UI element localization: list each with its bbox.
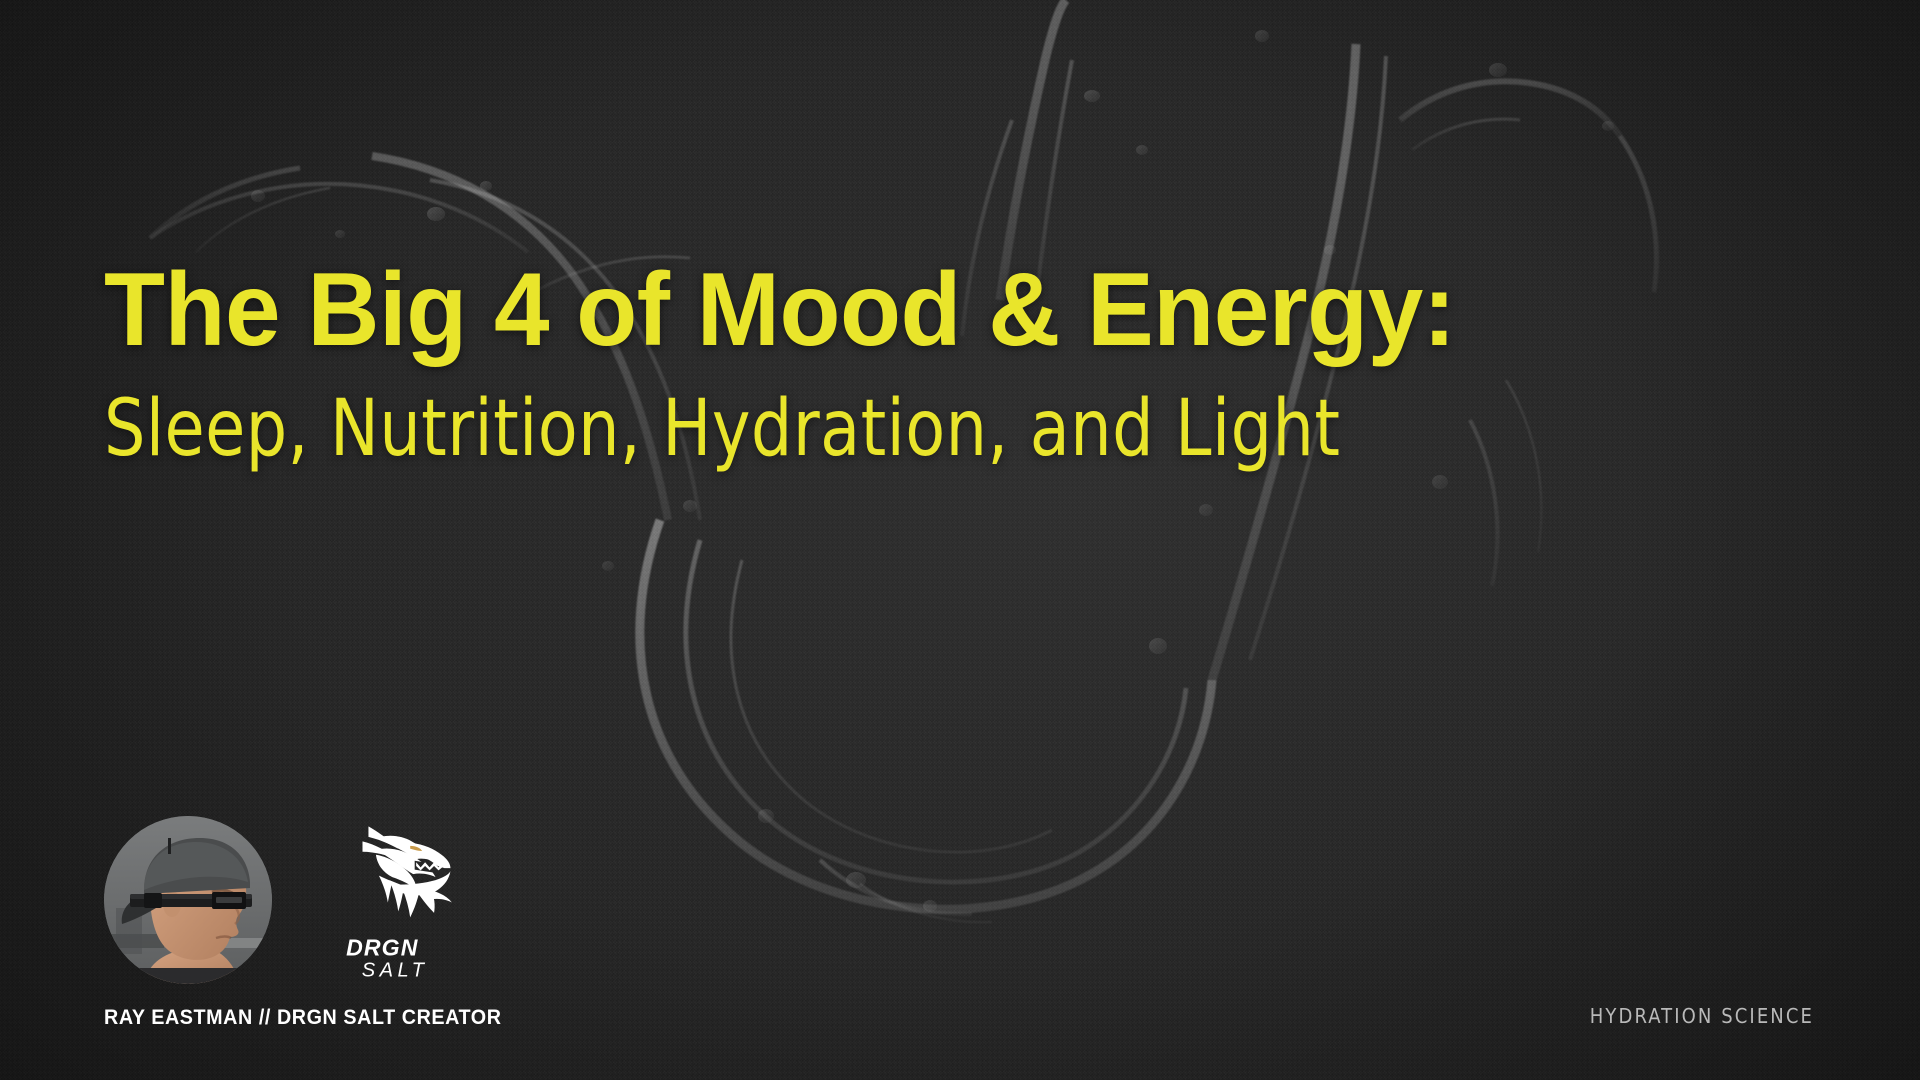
- brand-wordmark: DRGN SALT: [326, 934, 478, 980]
- speaker-credit: RAY EASTMAN // DRGN SALT CREATOR: [104, 1006, 502, 1030]
- avatar: [104, 816, 272, 984]
- page-subtitle: Sleep, Nutrition, Hydration, and Light: [104, 390, 1425, 468]
- brand-name-bottom: SALT: [362, 959, 429, 980]
- presentation-slide: The Big 4 of Mood & Energy: Sleep, Nutri…: [0, 0, 1920, 1080]
- brand-logo: DRGN SALT: [318, 816, 486, 984]
- page-title: The Big 4 of Mood & Energy:: [104, 258, 1467, 362]
- avatar-photo-icon: [104, 816, 272, 984]
- corner-tag: HYDRATION SCIENCE: [1590, 1004, 1814, 1028]
- headline-block: The Big 4 of Mood & Energy: Sleep, Nutri…: [104, 258, 1524, 468]
- credit-row: DRGN SALT: [104, 816, 486, 984]
- brand-name-top: DRGN: [346, 934, 419, 960]
- dragon-head-icon: [327, 816, 477, 934]
